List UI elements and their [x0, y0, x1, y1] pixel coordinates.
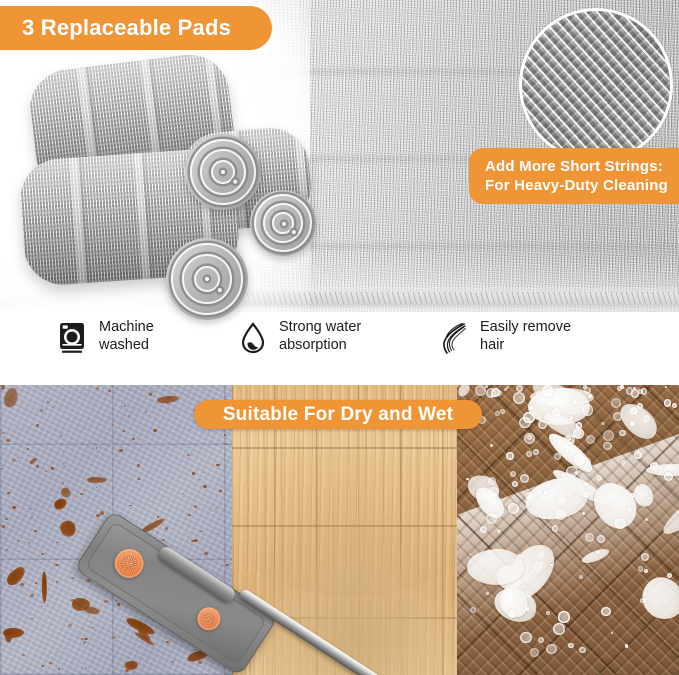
- feature-remove-hair: Easily remove hair: [437, 318, 679, 380]
- foam-bubble: [566, 466, 577, 477]
- stain-speck: [60, 435, 63, 437]
- stain-speck: [7, 492, 9, 494]
- foam-bubble: [555, 509, 566, 520]
- stain-speck: [194, 505, 198, 508]
- feature-row: Machine washed Strong water absorption: [0, 318, 679, 380]
- stain-speck: [215, 508, 216, 509]
- stain-speck: [96, 514, 100, 517]
- foam-bubble: [544, 490, 548, 494]
- stain-speck: [20, 583, 24, 586]
- stain-speck: [62, 463, 65, 465]
- foam-bubble: [538, 551, 545, 558]
- top-section: 3 Replaceable Pads Add More Short String…: [0, 0, 679, 385]
- foam-bubble: [495, 411, 500, 416]
- stain-speck: [200, 530, 203, 532]
- foam-bubble: [569, 416, 573, 420]
- soap-foam-layer: [457, 385, 679, 675]
- foam-bubble: [597, 535, 605, 543]
- stain-speck: [160, 622, 164, 625]
- stain-speck: [199, 479, 201, 480]
- stain-speck: [128, 415, 130, 417]
- foam-bubble: [630, 493, 635, 498]
- stain-speck: [56, 581, 58, 583]
- foam-bubble: [470, 607, 476, 613]
- foam-bubble: [603, 442, 612, 451]
- foam-bubble: [641, 553, 649, 561]
- stain-speck: [116, 600, 117, 601]
- foam-bubble: [524, 433, 535, 444]
- stain-speck: [35, 582, 37, 584]
- stain-speck: [220, 629, 222, 631]
- stain-speck: [34, 530, 37, 532]
- stain-speck: [168, 651, 169, 652]
- badge-short-strings-line2: For Heavy-Duty Cleaning: [485, 176, 668, 195]
- foam-bubble: [664, 399, 671, 406]
- foam-bubble: [486, 592, 489, 595]
- foam-bubble: [576, 422, 582, 428]
- foam-bubble: [550, 564, 552, 566]
- roll-spiral-end-2: [247, 187, 319, 259]
- stain-speck: [116, 588, 119, 590]
- stain-speck: [157, 516, 159, 518]
- foam-bubble: [506, 452, 513, 459]
- stain-speck: [36, 465, 39, 467]
- stain-speck: [145, 411, 147, 413]
- stain-speck: [119, 449, 123, 452]
- foam-bubble: [526, 451, 532, 457]
- stain-speck: [56, 542, 57, 543]
- foam-bubble: [601, 607, 610, 616]
- foam-bubble: [586, 435, 595, 444]
- stain-speck: [203, 485, 207, 488]
- stain-speck: [47, 401, 49, 403]
- product-infographic: 3 Replaceable Pads Add More Short String…: [0, 0, 679, 675]
- foam-bubble: [546, 644, 557, 655]
- foam-bubble: [579, 647, 585, 653]
- stain-speck: [175, 572, 176, 573]
- badge-short-strings-line1: Add More Short Strings:: [485, 157, 663, 176]
- stain-speck: [22, 654, 25, 656]
- stain-speck: [71, 599, 75, 602]
- foam-bubble: [486, 513, 497, 524]
- stain-speck: [166, 401, 169, 403]
- stain-speck: [171, 572, 174, 574]
- foam-bubble: [520, 632, 532, 644]
- stain-blob: [42, 572, 47, 603]
- stain-blob: [58, 518, 77, 537]
- stain-speck: [167, 591, 169, 592]
- stain-speck: [41, 553, 44, 556]
- foam-bubble: [579, 575, 583, 579]
- foam-bubble: [553, 623, 565, 635]
- foam-bubble: [491, 388, 500, 397]
- stain-speck: [92, 627, 94, 628]
- foam-bubble: [543, 516, 545, 518]
- stain-speck: [81, 638, 84, 640]
- foam-bubble: [546, 611, 550, 615]
- foam-bubble: [630, 421, 635, 426]
- foam-bubble: [634, 451, 642, 459]
- stain-speck: [1, 432, 5, 435]
- badge-replaceable-pads: 3 Replaceable Pads: [0, 6, 272, 50]
- stain-blob: [200, 626, 219, 649]
- stain-speck: [165, 527, 168, 529]
- foam-bubble: [645, 518, 648, 521]
- stain-blob: [176, 587, 190, 603]
- stain-speck: [118, 460, 120, 461]
- stain-speck: [189, 429, 190, 430]
- stain-speck: [152, 564, 154, 565]
- stain-speck: [62, 482, 64, 483]
- foam-bubble: [665, 386, 668, 389]
- stain-speck: [29, 539, 30, 540]
- stain-blob: [138, 567, 153, 588]
- stain-speck: [30, 594, 34, 597]
- foam-bubble: [525, 492, 533, 500]
- stain-speck: [85, 572, 87, 574]
- feature-water-absorption: Strong water absorption: [236, 318, 437, 380]
- stain-blob: [53, 496, 69, 511]
- foam-bubble: [480, 526, 487, 533]
- foam-bubble: [538, 420, 547, 429]
- stain-speck: [149, 393, 153, 396]
- stain-blob: [4, 564, 28, 588]
- foam-bubble: [574, 454, 585, 465]
- foam-bubble: [640, 598, 645, 603]
- foam-bubble: [547, 483, 552, 488]
- stain-speck: [96, 447, 98, 448]
- foam-bubble: [466, 478, 468, 480]
- foam-bubble: [538, 637, 544, 643]
- stain-speck: [1, 468, 3, 470]
- feature-machine-washed: Machine washed: [0, 318, 236, 380]
- feature-machine-washed-label: Machine washed: [99, 318, 154, 354]
- foam-bubble: [525, 607, 529, 611]
- stain-speck: [137, 464, 141, 467]
- stain-speck: [175, 552, 176, 553]
- foam-bubble: [611, 632, 613, 634]
- foam-bubble: [485, 385, 488, 388]
- stain-speck: [166, 641, 169, 643]
- foam-bubble: [520, 474, 530, 484]
- foam-bubble: [596, 475, 602, 481]
- stain-speck: [209, 587, 210, 588]
- stain-speck: [96, 387, 99, 390]
- stain-speck: [2, 525, 5, 527]
- stain-speck: [187, 454, 190, 456]
- foam-bubble: [513, 392, 525, 404]
- foam-bubble: [585, 533, 594, 542]
- stain-speck: [12, 459, 16, 462]
- stain-speck: [52, 407, 54, 409]
- stain-speck: [138, 478, 141, 480]
- stain-speck: [225, 564, 228, 567]
- foam-bubble: [542, 385, 553, 396]
- water-drop-icon: [236, 318, 270, 358]
- stain-speck: [216, 464, 220, 467]
- wood-dust-patch: [250, 535, 457, 675]
- stain-speck: [4, 537, 6, 539]
- foam-bubble: [530, 648, 539, 657]
- foam-bubble: [643, 415, 650, 422]
- stain-blob: [140, 517, 166, 535]
- stain-speck: [17, 540, 19, 541]
- stain-speck: [91, 478, 94, 480]
- stain-speck: [84, 641, 87, 643]
- stain-speck: [171, 661, 174, 664]
- stain-blob: [199, 587, 232, 613]
- stain-speck: [6, 439, 10, 442]
- stain-blob: [1, 385, 5, 390]
- foam-bubble: [516, 385, 523, 392]
- foam-bubble: [554, 453, 561, 460]
- roll-spiral-end-3: [163, 235, 251, 323]
- foam-bubble: [552, 408, 561, 417]
- stain-speck: [0, 385, 1, 386]
- stain-speck: [96, 487, 97, 488]
- stain-speck: [100, 511, 104, 514]
- foam-bubble: [583, 385, 587, 389]
- badge-replaceable-pads-label: 3 Replaceable Pads: [22, 15, 231, 41]
- stain-speck: [36, 424, 39, 427]
- foam-bubble: [469, 553, 471, 555]
- stain-speck: [217, 533, 219, 534]
- badge-suitable-dry-wet: Suitable For Dry and Wet: [194, 400, 482, 429]
- stain-speck: [125, 669, 129, 672]
- stain-speck: [29, 508, 32, 510]
- stain-speck: [71, 577, 74, 580]
- foam-bubble: [637, 403, 643, 409]
- foam-bubble: [638, 566, 644, 572]
- stain-speck: [41, 606, 43, 607]
- stain-speck: [40, 409, 43, 412]
- stain-speck: [194, 539, 198, 542]
- foam-bubble: [504, 388, 507, 391]
- stain-speck: [83, 490, 85, 491]
- foam-bubble: [457, 385, 459, 387]
- stain-speck: [147, 538, 150, 540]
- foam-bubble: [619, 430, 626, 437]
- brown-stain-layer: [0, 385, 232, 675]
- stain-speck: [80, 493, 83, 495]
- rolled-microfiber-pads-icon: [22, 62, 312, 314]
- stain-speck: [58, 668, 60, 670]
- foam-bubble: [510, 471, 516, 477]
- stain-speck: [31, 516, 33, 518]
- foam-bubble: [523, 412, 534, 423]
- stain-blob: [132, 599, 147, 612]
- stain-speck: [55, 564, 59, 567]
- spiral-disc: [247, 187, 319, 259]
- stain-speck: [198, 661, 202, 664]
- stain-speck: [1, 465, 3, 466]
- stain-speck: [64, 466, 66, 467]
- stain-speck: [224, 434, 226, 435]
- foam-bubble: [533, 561, 543, 571]
- hair-strands-icon: [437, 318, 471, 358]
- stain-speck: [198, 641, 201, 643]
- foam-bubble: [601, 422, 604, 425]
- foam-bubble: [582, 512, 585, 515]
- badge-suitable-dry-wet-label: Suitable For Dry and Wet: [223, 404, 453, 426]
- feature-remove-hair-label: Easily remove hair: [480, 318, 571, 354]
- stain-speck: [179, 634, 183, 637]
- stain-speck: [117, 603, 121, 606]
- stain-speck: [152, 540, 154, 541]
- foam-bubble: [500, 409, 505, 414]
- washing-machine-icon: [56, 318, 90, 358]
- spiral-disc: [163, 235, 251, 323]
- stain-speck: [112, 636, 116, 639]
- stain-speck: [220, 624, 224, 627]
- foam-bubble: [625, 644, 628, 647]
- foam-bubble: [583, 491, 590, 498]
- stain-speck: [187, 533, 189, 534]
- stain-speck: [219, 490, 222, 492]
- foam-blob: [580, 546, 611, 566]
- stain-speck: [173, 401, 175, 402]
- foam-bubble: [488, 487, 498, 497]
- stain-speck: [28, 542, 30, 544]
- stain-speck: [105, 537, 108, 539]
- stain-speck: [192, 472, 196, 475]
- stain-speck: [221, 566, 222, 567]
- foam-bubble: [512, 481, 518, 487]
- foam-bubble: [552, 525, 558, 531]
- foam-bubble: [558, 611, 569, 622]
- foam-bubble: [568, 643, 574, 649]
- stain-speck: [51, 467, 54, 470]
- foam-blob: [658, 484, 679, 539]
- stain-speck: [121, 400, 122, 401]
- stain-speck: [27, 448, 29, 450]
- stain-speck: [169, 550, 171, 552]
- magnifier-circle-icon: [519, 8, 673, 162]
- foam-bubble: [644, 569, 648, 573]
- foam-blob: [457, 385, 472, 399]
- foam-bubble: [497, 529, 501, 533]
- foam-bubble: [621, 460, 626, 465]
- stain-speck: [190, 564, 194, 567]
- stain-speck: [203, 472, 205, 473]
- stain-speck: [85, 667, 87, 669]
- stain-blob: [29, 457, 39, 465]
- stain-speck: [105, 449, 107, 450]
- stain-speck: [108, 390, 111, 392]
- stain-speck: [153, 429, 157, 432]
- foam-bubble: [582, 404, 594, 416]
- stain-blob: [60, 486, 72, 499]
- magnifier-fabric-closeup: [522, 11, 670, 159]
- foam-bubble: [667, 573, 672, 578]
- stain-speck: [225, 443, 228, 445]
- foam-bubble: [641, 388, 647, 394]
- stain-speck: [157, 532, 158, 533]
- stain-speck: [204, 552, 207, 555]
- stain-speck: [12, 506, 16, 509]
- stain-speck: [57, 652, 58, 653]
- stain-speck: [7, 636, 11, 639]
- bottom-section: Suitable For Dry and Wet: [0, 385, 679, 675]
- foam-bubble: [613, 412, 622, 421]
- foam-bubble: [490, 444, 493, 447]
- foam-bubble: [508, 503, 519, 514]
- stain-speck: [105, 533, 108, 535]
- stain-speck: [17, 457, 19, 458]
- badge-short-strings: Add More Short Strings: For Heavy-Duty C…: [469, 148, 679, 204]
- foam-bubble: [633, 387, 636, 390]
- stain-speck: [17, 551, 19, 552]
- stain-speck: [176, 613, 178, 615]
- stain-speck: [104, 600, 108, 603]
- foam-bubble: [620, 385, 623, 388]
- foam-bubble: [672, 403, 677, 408]
- foam-bubble: [664, 472, 673, 481]
- stain-speck: [129, 505, 132, 507]
- stain-speck: [41, 665, 44, 667]
- stain-speck: [162, 539, 164, 541]
- stain-speck: [31, 618, 33, 620]
- feature-water-absorption-label: Strong water absorption: [279, 318, 361, 354]
- herringbone-wood-floor-with-foam-icon: [457, 385, 679, 675]
- stain-speck: [5, 518, 8, 520]
- stain-speck: [45, 471, 47, 473]
- stain-speck: [84, 638, 87, 640]
- foam-bubble: [611, 398, 621, 408]
- stain-speck: [68, 624, 72, 627]
- stained-gray-tile-floor-icon: [0, 385, 232, 675]
- foam-bubble: [603, 430, 614, 441]
- foam-bubble: [650, 462, 658, 470]
- stain-speck: [119, 427, 120, 428]
- stain-speck: [5, 549, 8, 551]
- stain-speck: [89, 621, 91, 622]
- foam-bubble: [533, 449, 540, 456]
- stain-speck: [113, 424, 115, 425]
- stain-speck: [224, 396, 226, 398]
- stain-speck: [123, 430, 126, 432]
- stain-speck: [87, 579, 90, 582]
- stain-speck: [124, 405, 126, 406]
- stain-speck: [49, 662, 52, 664]
- stain-speck: [63, 452, 64, 453]
- stain-speck: [132, 438, 135, 441]
- stain-speck: [182, 493, 184, 494]
- stain-speck: [188, 514, 191, 516]
